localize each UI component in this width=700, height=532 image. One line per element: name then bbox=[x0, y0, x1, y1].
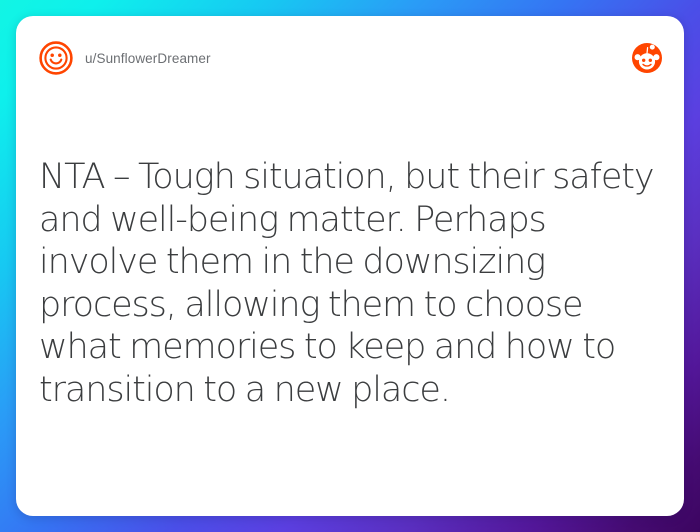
reddit-snoo-icon[interactable] bbox=[632, 43, 662, 73]
reddit-post-card: u/SunflowerDreamer NTA – Tough situation… bbox=[16, 16, 684, 516]
post-text: NTA – Tough situation, but their safety … bbox=[39, 156, 669, 412]
smiley-face-avatar-icon[interactable] bbox=[39, 41, 73, 75]
post-body: NTA – Tough situation, but their safety … bbox=[39, 156, 669, 412]
username-label[interactable]: u/SunflowerDreamer bbox=[85, 51, 211, 66]
post-header: u/SunflowerDreamer bbox=[16, 16, 684, 100]
